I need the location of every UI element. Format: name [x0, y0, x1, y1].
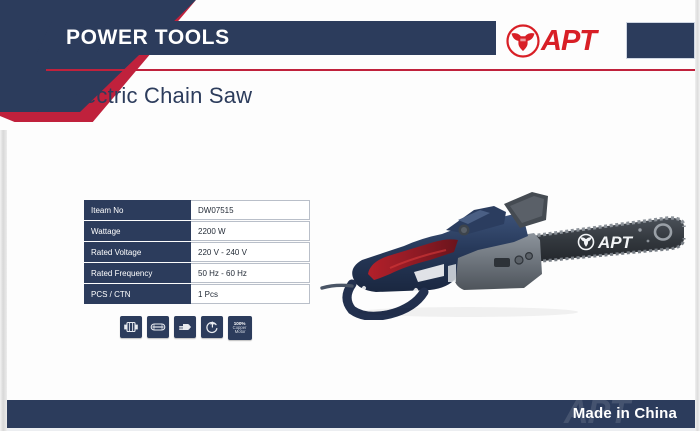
spec-value: 50 Hz - 60 Hz [191, 263, 310, 283]
category-label: POWER TOOLS [66, 25, 230, 51]
footer-text: Made in China [573, 405, 677, 422]
spec-table-body: Iteam No DW07515 Wattage 2200 W Rated Vo… [84, 200, 310, 304]
header-right-block [626, 22, 695, 59]
motor-icon [120, 316, 142, 338]
spec-value: DW07515 [191, 200, 310, 220]
page-title: Electric Chain Saw [64, 83, 252, 109]
spec-label: Rated Frequency [84, 263, 191, 283]
table-row: Wattage 2200 W [84, 221, 310, 241]
spec-value: 1 Pcs [191, 284, 310, 304]
bull-head-circle-icon [506, 24, 540, 58]
spec-value: 2200 W [191, 221, 310, 241]
chain-bar-icon [147, 316, 169, 338]
svg-text:APT: APT [597, 233, 634, 252]
table-row: Iteam No DW07515 [84, 200, 310, 220]
copper-motor-badge: 100% Copper Motor [228, 316, 252, 340]
spec-value: 220 V - 240 V [191, 242, 310, 262]
header-divider-rule [46, 69, 695, 71]
table-row: Rated Voltage 220 V - 240 V [84, 242, 310, 262]
chainsaw-guide-bar: APT [532, 218, 684, 262]
brand-logo: APT [506, 22, 620, 60]
spec-label: Iteam No [84, 200, 191, 220]
page-right-edge [695, 0, 700, 431]
electric-chainsaw-photo: APT [318, 180, 694, 320]
copper-badge-line3: Motor [235, 330, 246, 334]
feature-icon-row: 100% Copper Motor [120, 316, 252, 340]
rotation-arrow-icon [201, 316, 223, 338]
specification-table: Iteam No DW07515 Wattage 2200 W Rated Vo… [84, 199, 310, 305]
table-row: PCS / CTN 1 Pcs [84, 284, 310, 304]
brand-wordmark: APT [541, 27, 596, 56]
spec-label: PCS / CTN [84, 284, 191, 304]
spec-label: Rated Voltage [84, 242, 191, 262]
table-row: Rated Frequency 50 Hz - 60 Hz [84, 263, 310, 283]
power-plug-icon [174, 316, 196, 338]
spec-label: Wattage [84, 221, 191, 241]
product-datasheet-page: POWER TOOLS APT Electric Chain Saw Iteam… [0, 0, 700, 431]
footer-bar: APT Made in China [7, 400, 695, 428]
